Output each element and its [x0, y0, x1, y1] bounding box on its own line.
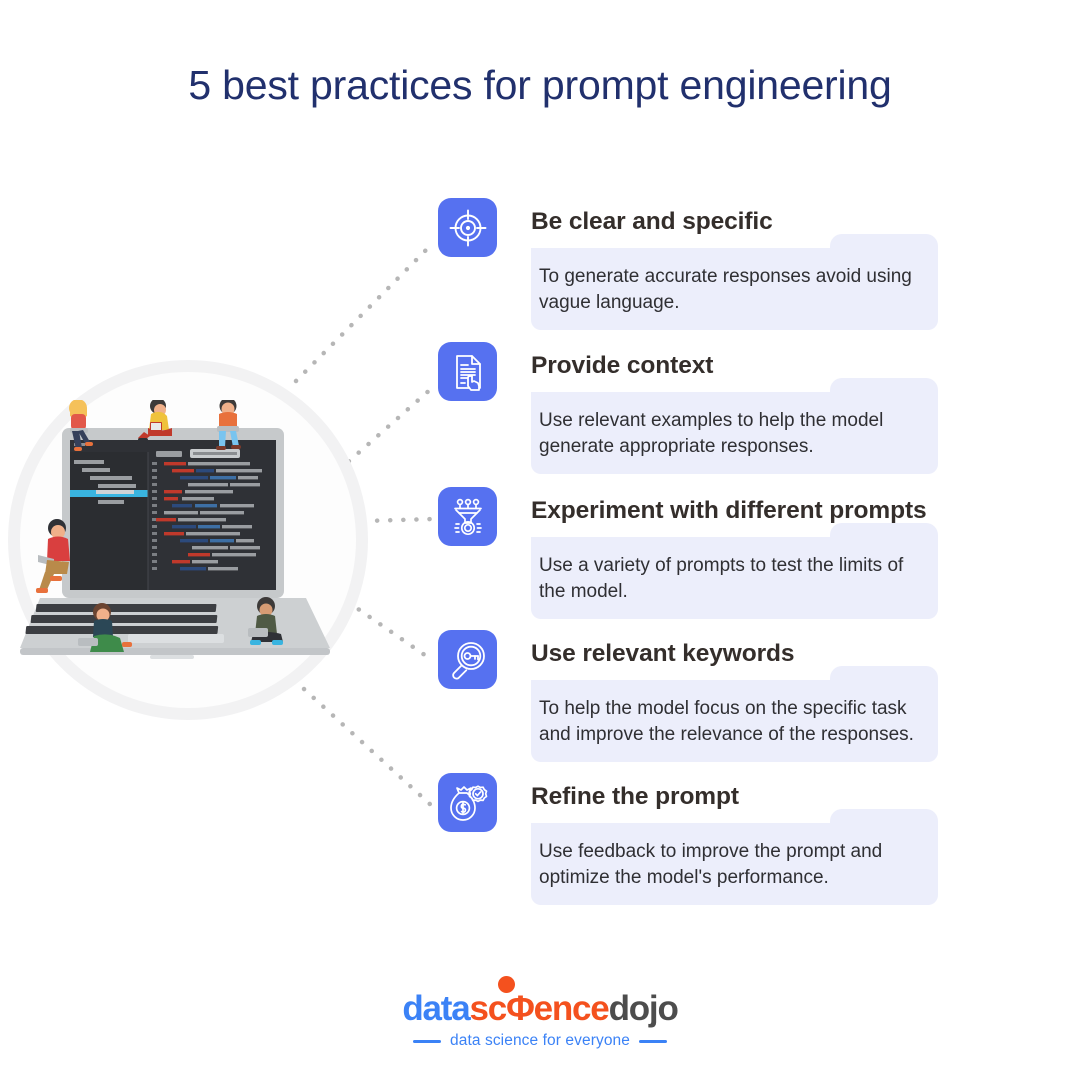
- tagline-dash-left: [413, 1040, 441, 1043]
- practice-heading: Provide context: [531, 352, 713, 380]
- logo-text-dojo: dojo: [609, 989, 678, 1028]
- laptop-illustration: [10, 400, 340, 680]
- logo-tagline: data science for everyone: [450, 1032, 630, 1050]
- practice-description-text: Use a variety of prompts to test the lim…: [539, 553, 928, 605]
- practice-description-text: Use feedback to improve the prompt and o…: [539, 839, 928, 891]
- practice-description-text: To help the model focus on the specific …: [539, 696, 928, 748]
- logo-figure-icon: Φ: [506, 989, 534, 1028]
- practice-heading: Refine the prompt: [531, 783, 739, 811]
- practice-description: Use relevant examples to help the model …: [531, 392, 938, 474]
- infographic-canvas: 5 best practices for prompt engineering: [0, 0, 1080, 1080]
- practice-description-text: Use relevant examples to help the model …: [539, 408, 928, 460]
- magnifier-key-icon[interactable]: [438, 630, 497, 689]
- target-crosshair-icon[interactable]: [438, 198, 497, 257]
- logo-text-data: data: [402, 989, 469, 1028]
- connector-line-3: [364, 519, 432, 521]
- practice-description: Use feedback to improve the prompt and o…: [531, 823, 938, 905]
- tagline-dash-right: [639, 1040, 667, 1043]
- practice-heading: Use relevant keywords: [531, 640, 794, 668]
- illustration-people-laptop: [8, 350, 368, 740]
- practice-description: To generate accurate responses avoid usi…: [531, 248, 938, 330]
- datasciencedojo-logo[interactable]: datascΦencedojo data science for everyon…: [0, 990, 1080, 1050]
- page-title: 5 best practices for prompt engineering: [0, 62, 1080, 109]
- practice-description: Use a variety of prompts to test the lim…: [531, 537, 938, 619]
- logo-text-sc: sc: [470, 989, 507, 1028]
- practice-heading: Experiment with different prompts: [531, 497, 927, 525]
- practice-description: To help the model focus on the specific …: [531, 680, 938, 762]
- money-bag-gear-check-icon[interactable]: [438, 773, 497, 832]
- experiment-funnel-icon[interactable]: [438, 487, 497, 546]
- logo-text-ence: ence: [534, 989, 609, 1028]
- logo-tagline-row: data science for everyone: [0, 1032, 1080, 1050]
- logo-wordmark: datascΦencedojo: [402, 990, 677, 1028]
- practice-heading: Be clear and specific: [531, 208, 773, 236]
- document-hand-pointer-icon[interactable]: [438, 342, 497, 401]
- practice-description-text: To generate accurate responses avoid usi…: [539, 264, 928, 316]
